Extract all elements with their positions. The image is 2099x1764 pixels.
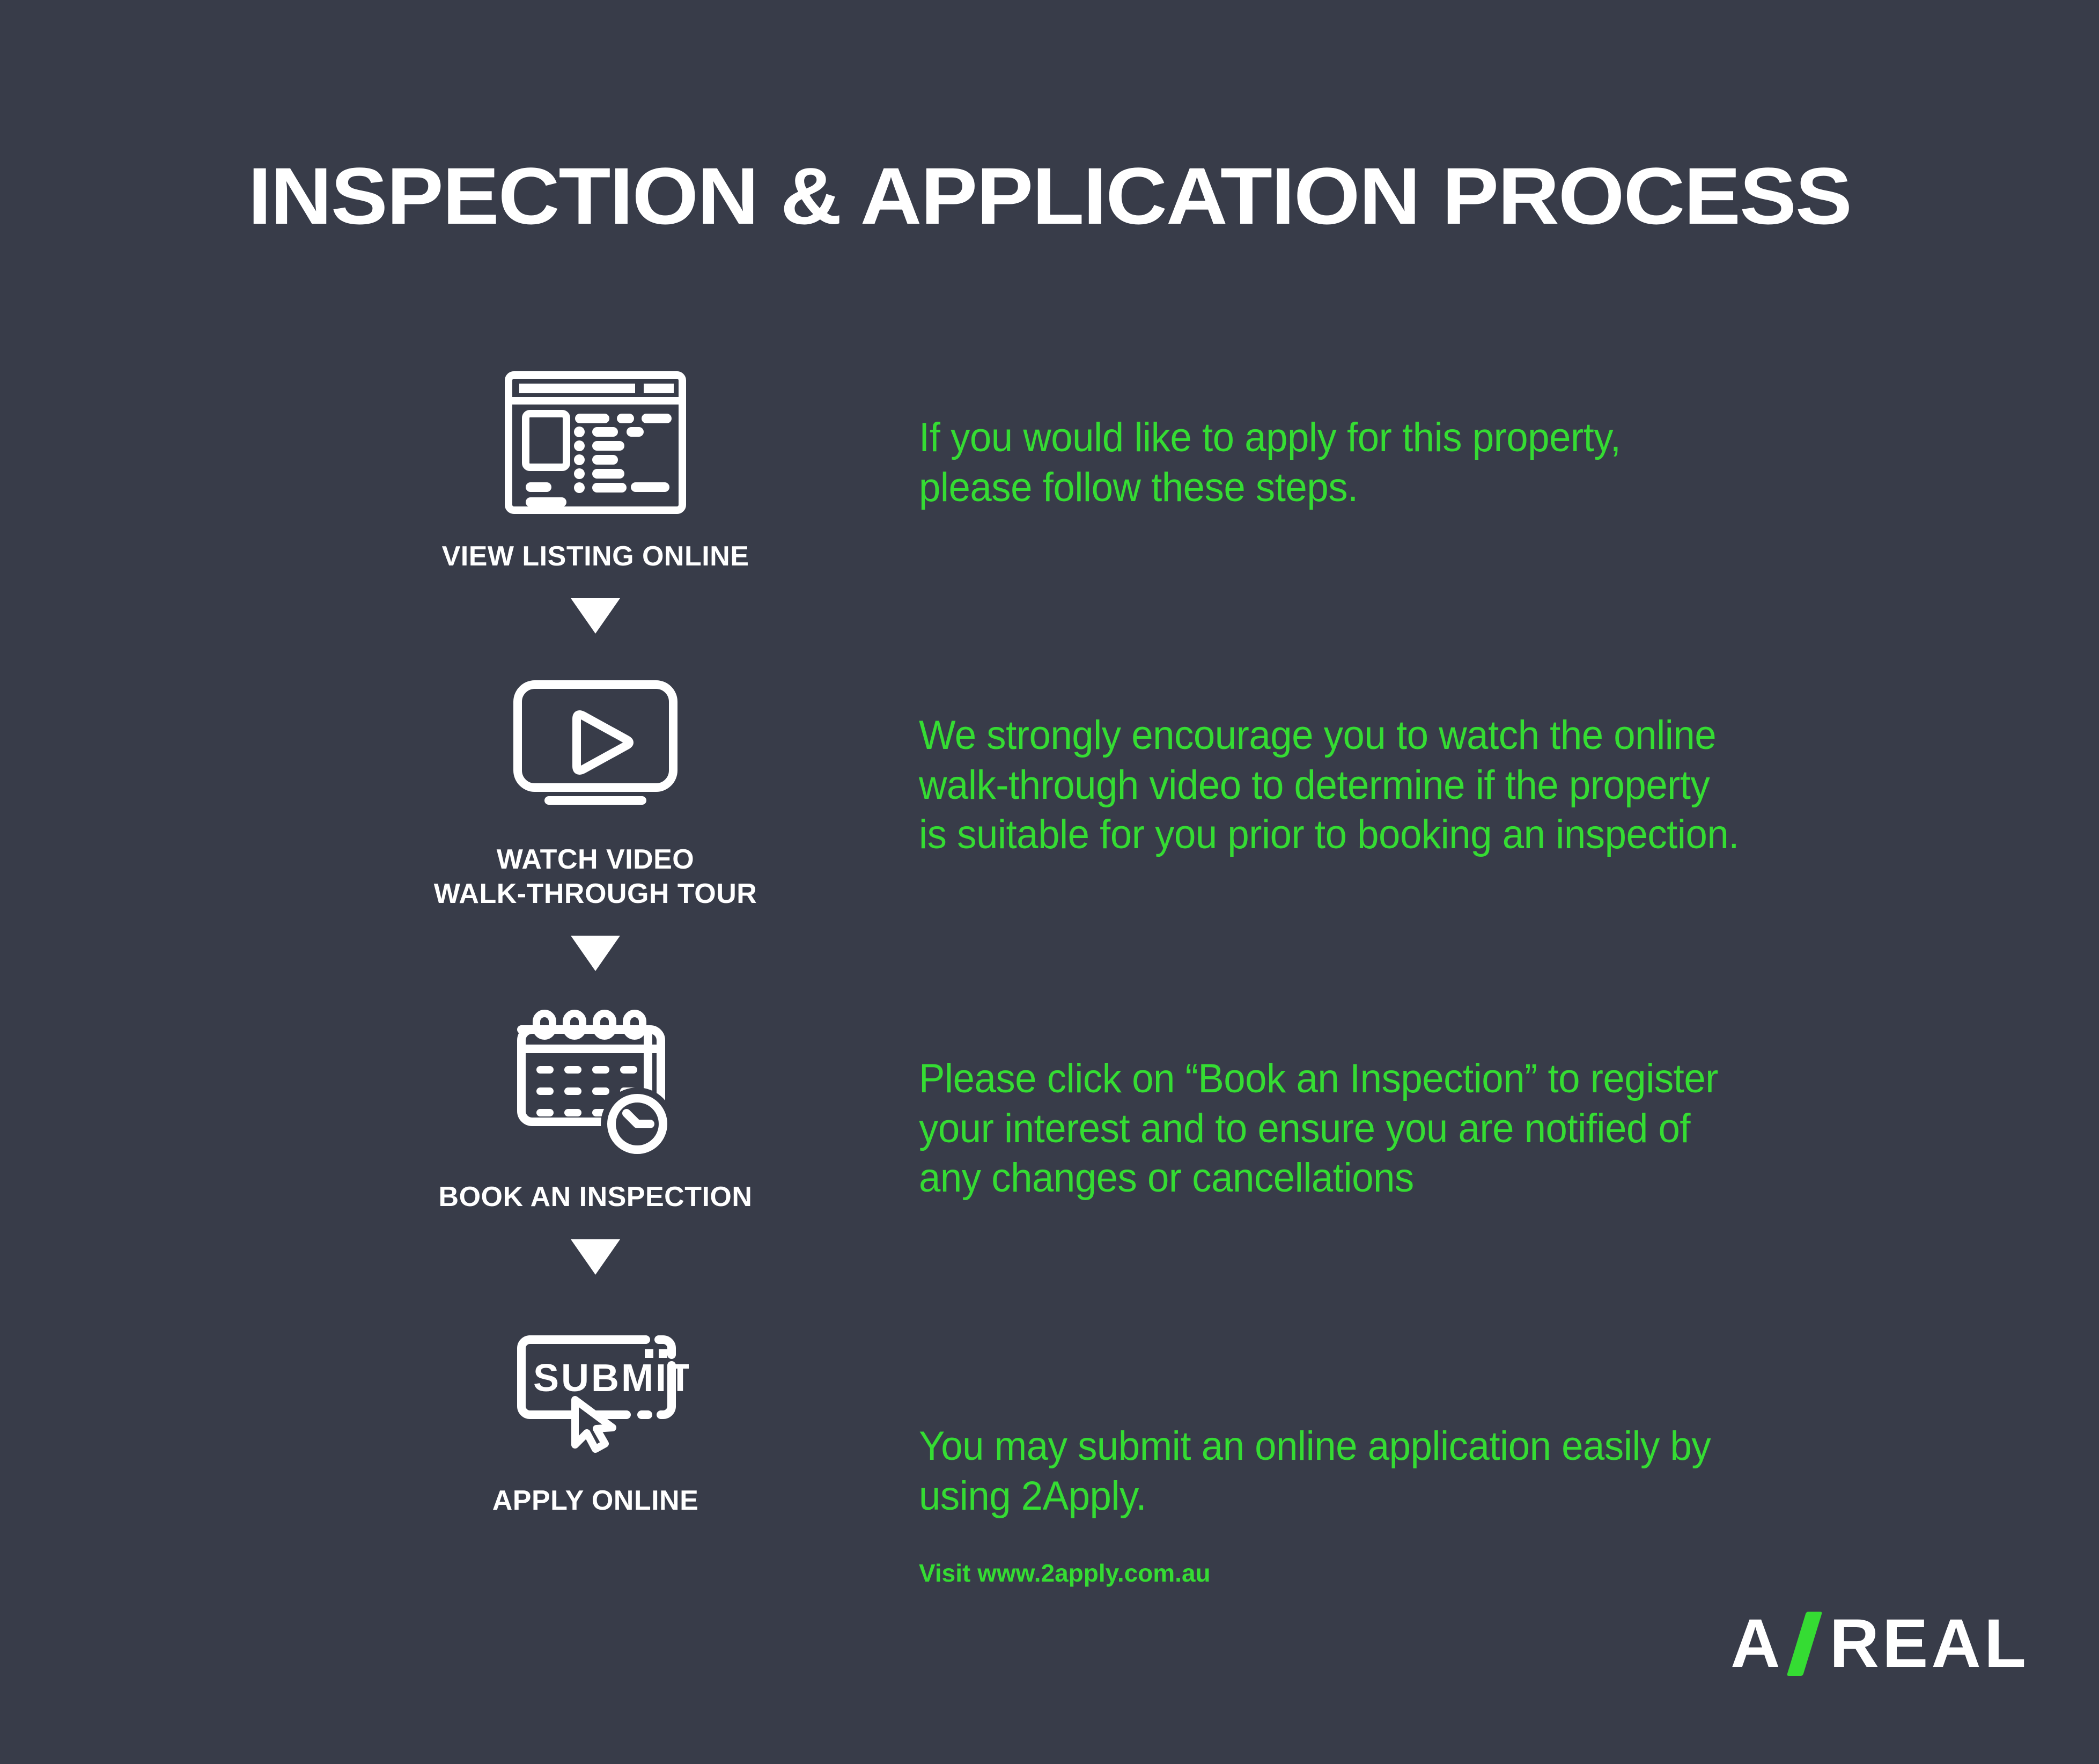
poster-canvas: INSPECTION & APPLICATION PROCESS xyxy=(0,0,2099,1764)
step-label: VIEW LISTING ONLINE xyxy=(408,540,783,574)
logo-letter-a: A xyxy=(1730,1609,1783,1678)
brand-logo: A REAL xyxy=(1730,1609,2029,1678)
flow-arrow-down-icon xyxy=(408,936,783,971)
page-title: INSPECTION & APPLICATION PROCESS xyxy=(0,156,2099,236)
step-view-listing-online[interactable]: VIEW LISTING ONLINE xyxy=(408,354,783,574)
browser-listing-icon xyxy=(408,354,783,531)
flow-arrow-down-icon xyxy=(408,1239,783,1275)
step-book-inspection[interactable]: BOOK AN INSPECTION xyxy=(408,995,783,1214)
copy-view-listing: If you would like to apply for this prop… xyxy=(919,413,1621,512)
step-watch-video[interactable]: WATCH VIDEO WALK-THROUGH TOUR xyxy=(408,657,783,911)
calendar-clock-icon xyxy=(408,995,783,1172)
copy-apply-online: You may submit an online application eas… xyxy=(919,1422,1711,1521)
submit-button-cursor-icon: SUBMIT xyxy=(408,1298,783,1475)
step-label: WATCH VIDEO WALK-THROUGH TOUR xyxy=(408,843,783,911)
copy-watch-video: We strongly encourage you to watch the o… xyxy=(919,711,1739,860)
flow-arrow-down-icon xyxy=(408,598,783,634)
process-flow-column: VIEW LISTING ONLINE WATCH VIDEO WALK-THR… xyxy=(408,354,783,1518)
video-play-icon xyxy=(408,657,783,834)
visit-url-link[interactable]: Visit www.2apply.com.au xyxy=(919,1559,1211,1587)
submit-icon-text: SUBMIT xyxy=(533,1357,689,1400)
logo-slash-icon xyxy=(1786,1612,1822,1676)
copy-book-inspection: Please click on “Book an Inspection” to … xyxy=(919,1054,1718,1203)
step-apply-online[interactable]: SUBMIT APPLY ONLINE xyxy=(408,1298,783,1518)
step-label: BOOK AN INSPECTION xyxy=(408,1180,783,1214)
step-label: APPLY ONLINE xyxy=(408,1484,783,1518)
logo-word-real: REAL xyxy=(1830,1609,2029,1678)
